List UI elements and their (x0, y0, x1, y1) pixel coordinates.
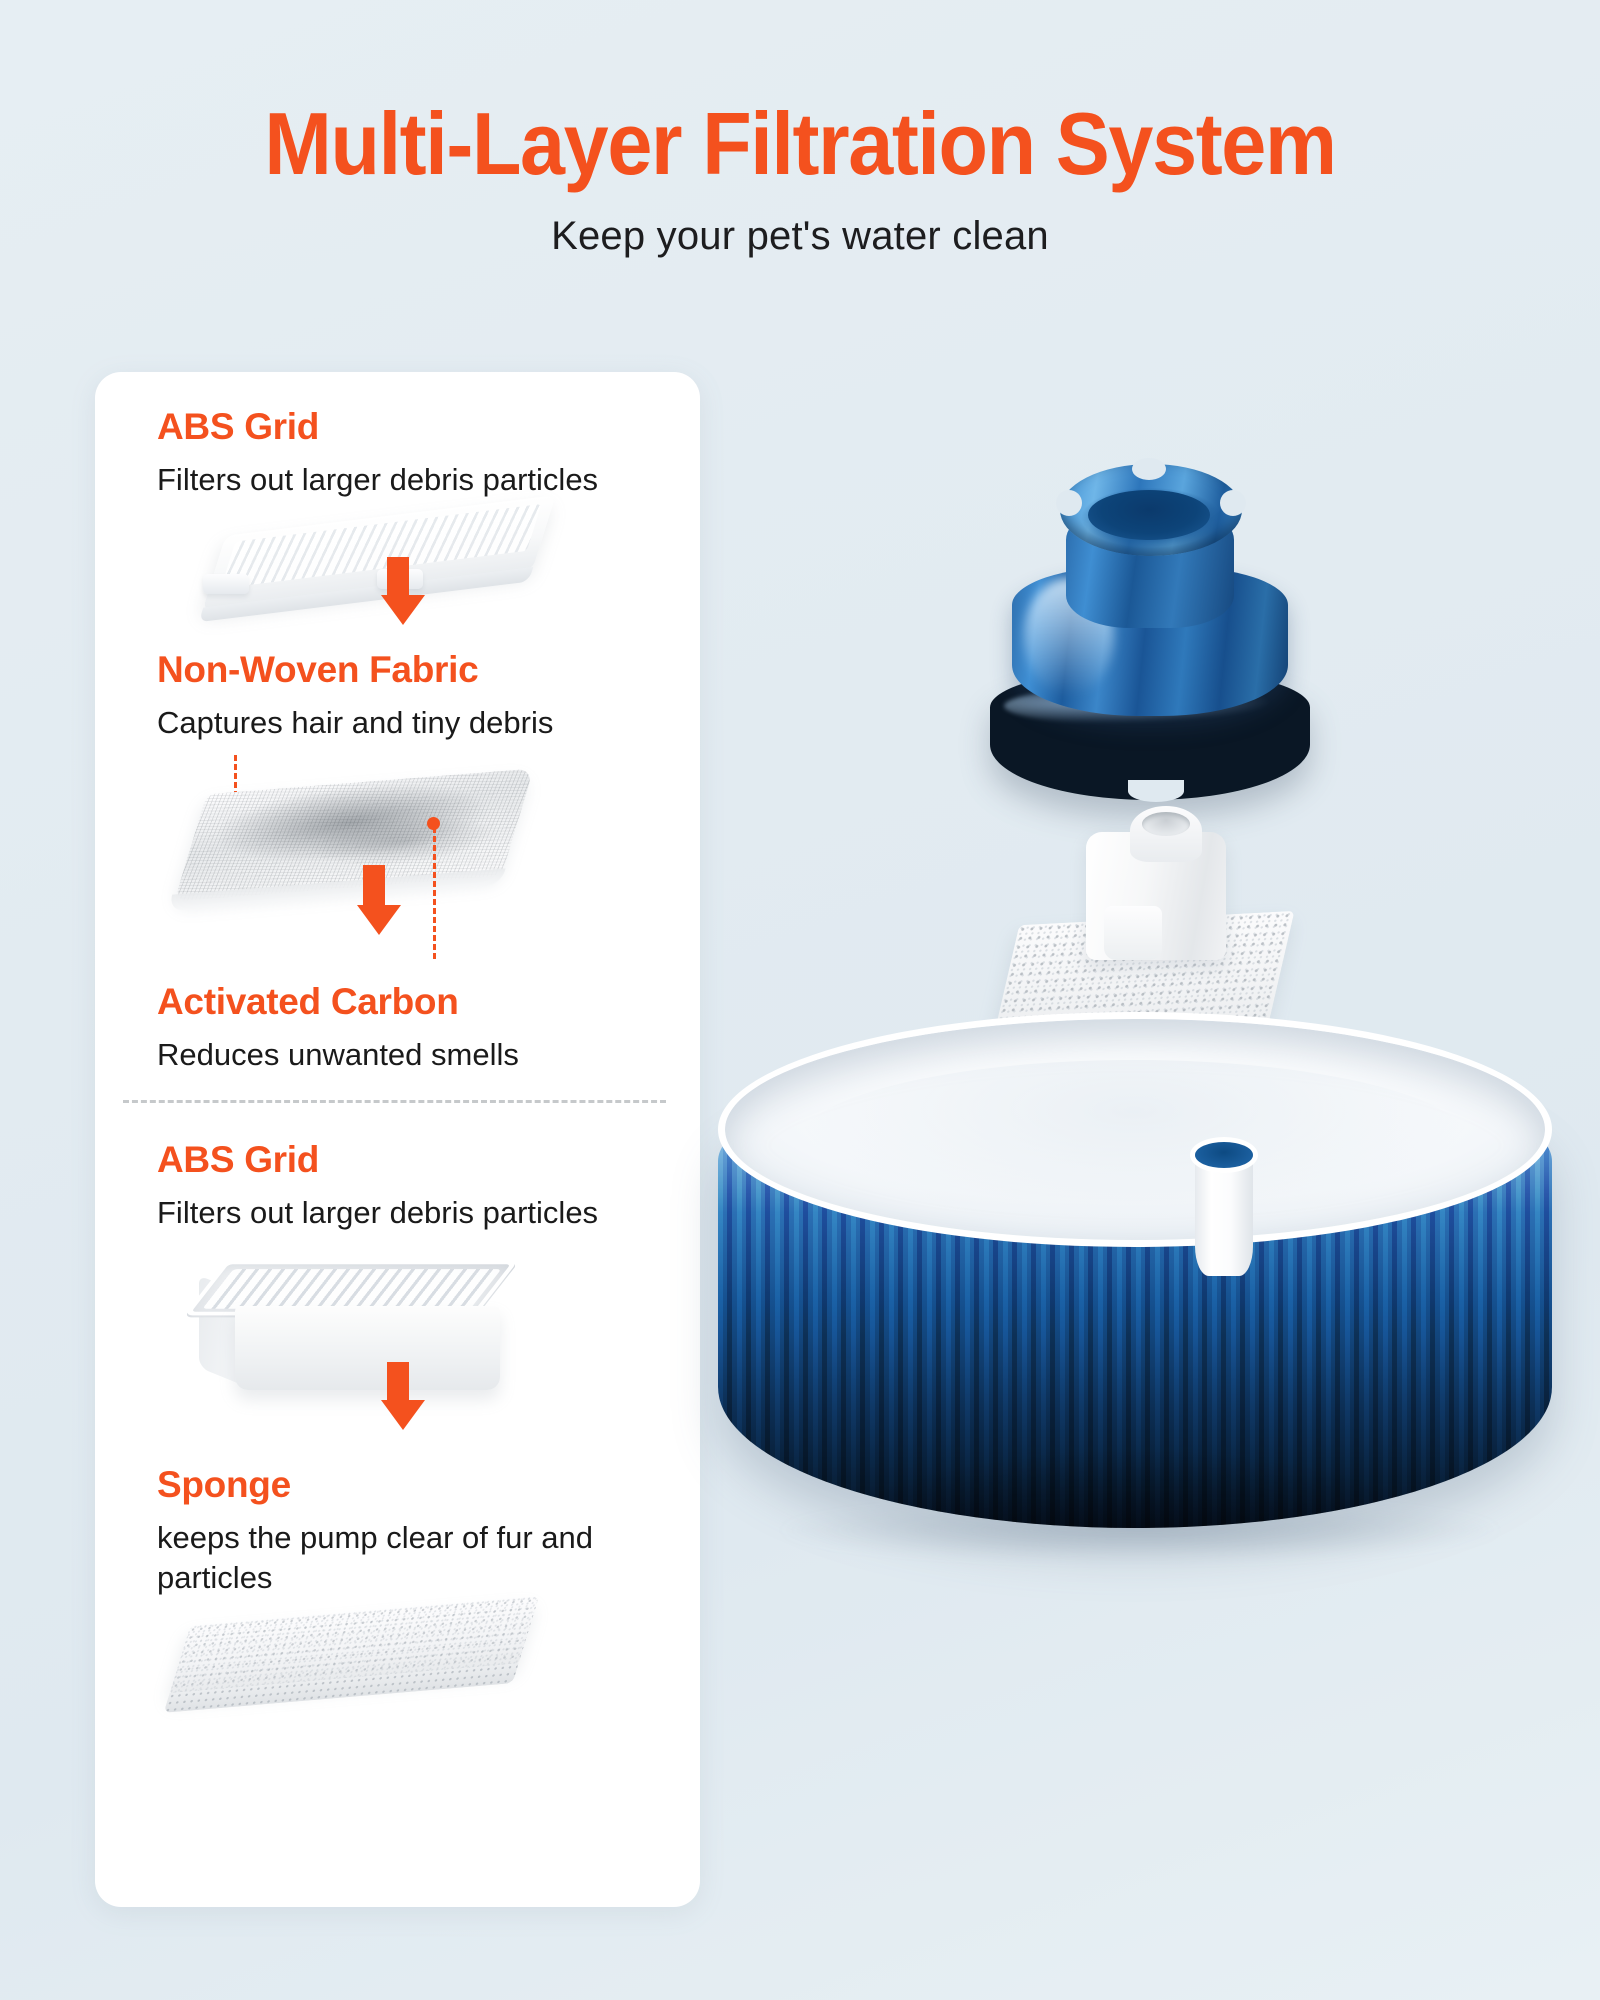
cap-rim-opening (1088, 490, 1210, 540)
flow-arrow-icon (381, 557, 415, 625)
layer-title: Activated Carbon (157, 981, 666, 1023)
layer-description: Filters out larger debris particles (157, 1193, 666, 1232)
water-spout-opening (1195, 1142, 1253, 1168)
layer-title: ABS Grid (157, 406, 666, 448)
filtration-layers-card: ABS Grid Filters out larger debris parti… (95, 372, 700, 1907)
bowl-interior-shading (796, 1060, 1472, 1230)
layer-description: Filters out larger debris particles (157, 460, 666, 499)
fabric-sheet-shape (174, 768, 534, 901)
layer-title: ABS Grid (157, 1139, 666, 1181)
page-title: Multi-Layer Filtration System (64, 100, 1536, 188)
layer-sponge: Sponge keeps the pump clear of fur and p… (95, 1464, 700, 1747)
page-header: Multi-Layer Filtration System Keep your … (0, 0, 1600, 259)
layer-description: keeps the pump clear of fur and particle… (157, 1518, 666, 1597)
layer-title: Sponge (157, 1464, 666, 1506)
layer-title: Non-Woven Fabric (157, 649, 666, 691)
flow-arrow-icon (357, 865, 391, 935)
tray-front-face (235, 1306, 500, 1390)
abs-grid-tray-illustration (129, 1232, 666, 1464)
layer-abs-grid-tray: ABS Grid Filters out larger debris parti… (95, 1139, 700, 1464)
ceramic-tower-cap (980, 450, 1320, 800)
page-subtitle: Keep your pet's water clean (0, 214, 1600, 259)
non-woven-fabric-illustration (129, 743, 666, 981)
cap-scallop-notch (1220, 490, 1246, 516)
ceramic-fountain-bowl (700, 1002, 1570, 1602)
abs-grid-tray-shape (189, 1242, 539, 1402)
pump-outlet-hole (1142, 812, 1190, 836)
abs-grid-panel-illustration (129, 499, 666, 649)
flow-arrow-icon (381, 1362, 415, 1430)
layer-description: Reduces unwanted smells (157, 1035, 666, 1074)
layer-abs-grid-top: ABS Grid Filters out larger debris parti… (95, 406, 700, 649)
layer-description: Captures hair and tiny debris (157, 703, 666, 742)
section-divider (123, 1100, 666, 1103)
layer-activated-carbon: Activated Carbon Reduces unwanted smells (95, 981, 700, 1074)
callout-line-lower (433, 827, 436, 959)
cap-scallop-notch (1132, 458, 1166, 480)
sponge-pad-shape (169, 1596, 539, 1696)
abs-grid-panel-shape (202, 496, 555, 611)
sponge-pad-illustration (129, 1597, 666, 1747)
cap-scallop-notch (1056, 490, 1082, 516)
layer-non-woven-fabric: Non-Woven Fabric Captures hair and tiny … (95, 649, 700, 980)
abs-grid-tab-left (203, 574, 249, 594)
product-exploded-view (700, 380, 1600, 1940)
water-spout-tube (1195, 1150, 1253, 1276)
